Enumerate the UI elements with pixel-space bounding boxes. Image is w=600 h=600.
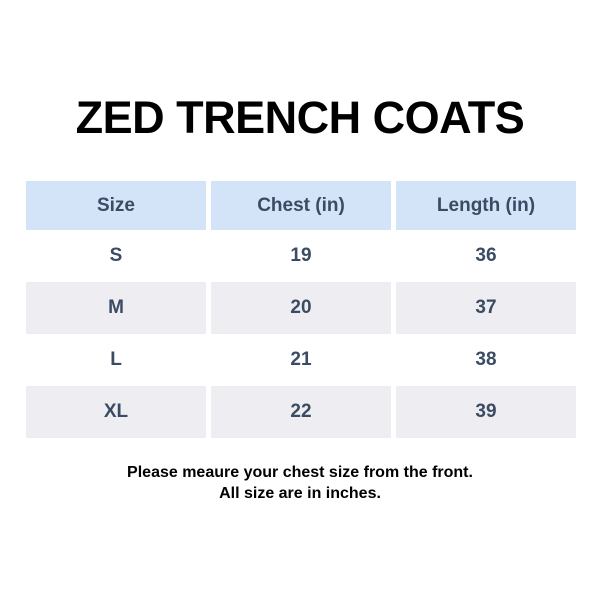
cell-length: 39 bbox=[396, 386, 576, 438]
table-row: L 21 38 bbox=[26, 334, 576, 386]
cell-length: 38 bbox=[396, 334, 576, 386]
cell-size: M bbox=[26, 282, 206, 334]
cell-size: S bbox=[26, 230, 206, 282]
size-chart-page: ZED TRENCH COATS Size Chest (in) Length … bbox=[0, 0, 600, 600]
footer-line-2: All size are in inches. bbox=[0, 483, 600, 504]
cell-size: XL bbox=[26, 386, 206, 438]
cell-chest: 21 bbox=[211, 334, 391, 386]
footer-line-1: Please meaure your chest size from the f… bbox=[0, 462, 600, 483]
table-header: Size Chest (in) Length (in) bbox=[26, 181, 576, 230]
column-header-length: Length (in) bbox=[396, 181, 576, 230]
table-row: S 19 36 bbox=[26, 230, 576, 282]
cell-length: 37 bbox=[396, 282, 576, 334]
table-row: XL 22 39 bbox=[26, 386, 576, 438]
cell-size: L bbox=[26, 334, 206, 386]
table-body: S 19 36 M 20 37 L 21 38 XL 22 39 bbox=[26, 230, 576, 438]
column-header-size: Size bbox=[26, 181, 206, 230]
table-header-row: Size Chest (in) Length (in) bbox=[26, 181, 576, 230]
cell-length: 36 bbox=[396, 230, 576, 282]
size-chart-table: Size Chest (in) Length (in) S 19 36 M 20… bbox=[21, 181, 581, 438]
cell-chest: 22 bbox=[211, 386, 391, 438]
footer-note: Please meaure your chest size from the f… bbox=[0, 462, 600, 504]
cell-chest: 19 bbox=[211, 230, 391, 282]
page-title: ZED TRENCH COATS bbox=[0, 92, 600, 144]
table-row: M 20 37 bbox=[26, 282, 576, 334]
column-header-chest: Chest (in) bbox=[211, 181, 391, 230]
cell-chest: 20 bbox=[211, 282, 391, 334]
